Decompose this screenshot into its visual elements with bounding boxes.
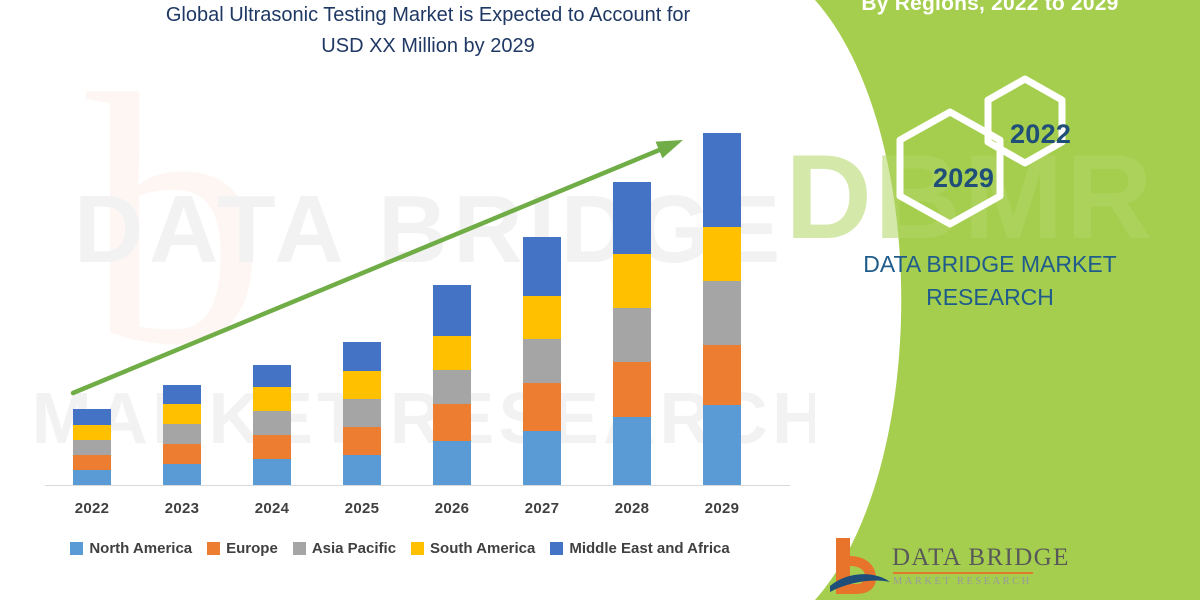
bar-2028: [613, 182, 651, 485]
bar-segment: [703, 345, 741, 405]
bar-2024: [253, 365, 291, 485]
bar-segment: [73, 455, 111, 470]
legend-swatch-icon: [411, 542, 424, 555]
bar-segment: [703, 227, 741, 281]
stacked-bar-chart: 20222023202420252026202720282029: [0, 0, 815, 600]
legend-swatch-icon: [207, 542, 220, 555]
x-axis-label-2023: 2023: [142, 500, 222, 517]
bar-segment: [613, 182, 651, 254]
bar-2027: [523, 237, 561, 485]
bar-2029: [703, 133, 741, 485]
bar-segment: [523, 383, 561, 431]
bar-segment: [703, 281, 741, 345]
bar-segment: [163, 464, 201, 485]
logo-subtext: MARKET RESEARCH: [893, 576, 1032, 587]
logo-mark-icon: [830, 536, 890, 596]
x-axis-label-2027: 2027: [502, 500, 582, 517]
bar-segment: [433, 285, 471, 336]
bar-segment: [433, 441, 471, 485]
legend-item: Asia Pacific: [293, 540, 396, 557]
x-axis-label-2025: 2025: [322, 500, 402, 517]
legend-label: North America: [89, 540, 192, 557]
legend-swatch-icon: [550, 542, 563, 555]
bar-segment: [163, 444, 201, 464]
bar-segment: [703, 405, 741, 485]
bar-segment: [433, 370, 471, 404]
bar-2025: [343, 342, 381, 485]
x-axis-label-2026: 2026: [412, 500, 492, 517]
bar-segment: [703, 133, 741, 227]
brand-name: DATA BRIDGE MARKET RESEARCH: [780, 248, 1200, 313]
bar-segment: [73, 440, 111, 455]
bar-segment: [343, 371, 381, 399]
hexagon-2022-label: 2022: [1010, 119, 1071, 150]
hexagon-2029-label: 2029: [933, 163, 994, 194]
x-axis-label-2022: 2022: [52, 500, 132, 517]
bar-segment: [343, 427, 381, 455]
bar-2023: [163, 385, 201, 485]
bar-segment: [523, 339, 561, 383]
brand-line2: RESEARCH: [780, 281, 1200, 314]
bar-segment: [253, 387, 291, 411]
bar-segment: [523, 237, 561, 297]
axis-baseline: [45, 485, 790, 486]
logo-text: DATA BRIDGE: [892, 544, 1070, 572]
bar-segment: [163, 424, 201, 444]
infographic-page: b DATA BRIDGE MARKET RESEARCH Global Ult…: [0, 0, 1200, 600]
x-axis-label-2024: 2024: [232, 500, 312, 517]
bar-segment: [343, 455, 381, 485]
bar-segment: [343, 342, 381, 370]
logo-divider: [893, 572, 1033, 574]
legend-label: Middle East and Africa: [569, 540, 729, 557]
bar-segment: [253, 411, 291, 435]
legend-item: Europe: [207, 540, 278, 557]
bar-segment: [343, 399, 381, 427]
legend-item: Middle East and Africa: [550, 540, 729, 557]
legend-item: South America: [411, 540, 535, 557]
legend-swatch-icon: [70, 542, 83, 555]
bar-segment: [73, 470, 111, 485]
brand-line1: DATA BRIDGE MARKET: [780, 248, 1200, 281]
bar-segment: [253, 365, 291, 387]
bar-segment: [163, 385, 201, 404]
bar-segment: [613, 254, 651, 308]
legend-label: South America: [430, 540, 535, 557]
bar-segment: [433, 404, 471, 441]
bar-segment: [613, 417, 651, 485]
bar-segment: [433, 336, 471, 370]
legend-label: Europe: [226, 540, 278, 557]
legend-swatch-icon: [293, 542, 306, 555]
bar-segment: [613, 362, 651, 417]
x-axis-label-2028: 2028: [592, 500, 672, 517]
bar-2026: [433, 285, 471, 485]
x-axis-label-2029: 2029: [682, 500, 762, 517]
legend-item: North America: [70, 540, 192, 557]
chart-legend: North AmericaEuropeAsia PacificSouth Ame…: [0, 540, 800, 557]
bar-segment: [253, 459, 291, 485]
bar-segment: [73, 409, 111, 424]
brand-panel: DBMR By Regions, 2022 to 2029 2022 2029 …: [780, 0, 1200, 600]
legend-label: Asia Pacific: [312, 540, 396, 557]
bar-2022: [73, 409, 111, 485]
bar-segment: [163, 404, 201, 424]
company-logo: DATA BRIDGE MARKET RESEARCH: [830, 536, 1160, 600]
bar-segment: [613, 308, 651, 362]
bar-segment: [523, 431, 561, 485]
bar-segment: [523, 296, 561, 339]
bar-segment: [253, 435, 291, 459]
bar-segment: [73, 425, 111, 440]
